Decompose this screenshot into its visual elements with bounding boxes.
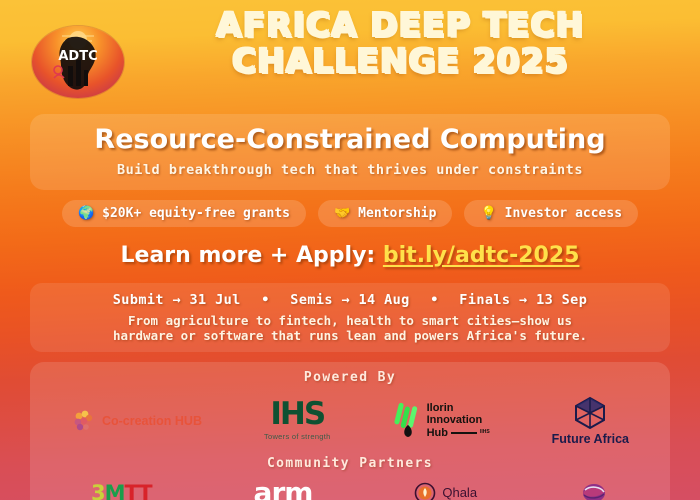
timeline-stage: Submit	[113, 292, 164, 308]
timeline-item-finals: Finals → 13 Sep	[459, 292, 587, 308]
timeline-band: Submit → 31 Jul • Semis → 14 Aug • Final…	[30, 283, 670, 352]
community-partner-logos: 3MTT arm Qhala	[40, 475, 660, 500]
description: From agriculture to fintech, health to s…	[40, 314, 660, 344]
timeline-separator: •	[249, 292, 282, 308]
ilorin-line-1: Ilorin	[427, 402, 490, 414]
3mtt-part-1: 3	[91, 481, 105, 500]
apply-link[interactable]: bit.ly/adtc-2025	[383, 243, 580, 268]
partners-section: Powered By Co-creation HUB	[30, 362, 670, 500]
logo-ilorin-innovation-hub[interactable]: Ilorin Innovation Hub IIHS	[393, 402, 490, 439]
timeline-date: 13 Sep	[536, 292, 587, 308]
arrow-icon: →	[519, 292, 528, 308]
logo-3mtt[interactable]: 3MTT	[91, 481, 152, 500]
ilorin-rule	[451, 432, 477, 434]
timeline-date: 31 Jul	[190, 292, 241, 308]
ilorin-tag: IIHS	[480, 430, 490, 436]
timeline-item-semis: Semis → 14 Aug	[290, 292, 418, 308]
cchub-label: Co-creation HUB	[102, 414, 202, 428]
timeline-stage: Semis	[290, 292, 333, 308]
globe-icon: 🌍	[78, 207, 94, 220]
adtc-logo-text: ADTC	[58, 49, 97, 64]
swirl-globe-icon	[579, 479, 609, 500]
poster-header: ADTC AFRICA DEEP TECH CHALLENGE 2025	[0, 0, 700, 112]
timeline-stage: Finals	[459, 292, 510, 308]
benefit-label: Mentorship	[358, 206, 436, 221]
benefit-pill-grants[interactable]: 🌍 $20K+ equity-free grants	[62, 200, 306, 227]
adtc-logo: ADTC	[32, 26, 124, 98]
logo-qhala[interactable]: Qhala	[414, 482, 477, 500]
benefit-pills: 🌍 $20K+ equity-free grants 🤝 Mentorship …	[30, 200, 670, 227]
title-line-1: AFRICA DEEP TECH	[190, 8, 610, 42]
timeline-date: 14 Aug	[359, 292, 410, 308]
timeline-item-submit: Submit → 31 Jul	[113, 292, 249, 308]
logo-arm[interactable]: arm	[254, 479, 313, 500]
future-africa-label: Future Africa	[552, 432, 629, 446]
ilorin-line-2: Innovation	[427, 414, 490, 426]
ihs-tagline: Towers of strength	[264, 432, 331, 441]
title-line-2: CHALLENGE 2025	[190, 44, 610, 78]
3mtt-part-3: TT	[124, 481, 151, 500]
powered-by-heading: Powered By	[40, 370, 660, 385]
description-line-1: From agriculture to fintech, health to s…	[40, 314, 660, 329]
theme-subtitle: Build breakthrough tech that thrives und…	[44, 162, 656, 178]
ilorin-leaf-icon	[393, 403, 423, 439]
3mtt-part-2: M	[105, 481, 125, 500]
cta-prefix: Learn more + Apply:	[121, 243, 376, 268]
adtc-logo-art: ADTC	[32, 26, 124, 98]
logo-ihs[interactable]: IHS Towers of strength	[264, 400, 331, 440]
logo-swirl-globe[interactable]	[579, 479, 609, 500]
ihs-wordmark: IHS	[270, 400, 324, 429]
qhala-label: Qhala	[442, 485, 477, 500]
future-africa-hexagon-icon	[573, 396, 607, 430]
benefit-pill-mentorship[interactable]: 🤝 Mentorship	[318, 200, 452, 227]
arm-wordmark: arm	[254, 479, 313, 500]
qhala-flame-icon	[414, 482, 436, 500]
theme-title: Resource-Constrained Computing	[44, 124, 656, 155]
community-partners-heading: Community Partners	[40, 456, 660, 471]
logo-co-creation-hub[interactable]: Co-creation HUB	[71, 408, 202, 434]
timeline-row: Submit → 31 Jul • Semis → 14 Aug • Final…	[40, 292, 660, 308]
ilorin-wordmark: Ilorin Innovation Hub IIHS	[427, 402, 490, 439]
cchub-mark-icon	[71, 408, 97, 434]
ilorin-line-3: Hub	[427, 427, 448, 439]
logo-future-africa[interactable]: Future Africa	[552, 396, 629, 446]
handshake-icon: 🤝	[334, 207, 350, 220]
description-line-2: hardware or software that runs lean and …	[40, 329, 660, 344]
benefit-label: $20K+ equity-free grants	[102, 206, 290, 221]
3mtt-wordmark: 3MTT	[91, 481, 152, 500]
arrow-icon: →	[172, 292, 181, 308]
poster: ADTC AFRICA DEEP TECH CHALLENGE 2025 Res…	[0, 0, 700, 500]
benefit-label: Investor access	[505, 206, 622, 221]
poster-title: AFRICA DEEP TECH CHALLENGE 2025	[190, 8, 610, 77]
arrow-icon: →	[341, 292, 350, 308]
cta-line: Learn more + Apply: bit.ly/adtc-2025	[0, 243, 700, 268]
benefit-pill-investor-access[interactable]: 💡 Investor access	[464, 200, 638, 227]
powered-by-logos: Co-creation HUB IHS Towers of strength	[40, 392, 660, 450]
theme-band: Resource-Constrained Computing Build bre…	[30, 114, 670, 190]
lightbulb-icon: 💡	[480, 207, 496, 220]
timeline-separator: •	[418, 292, 451, 308]
